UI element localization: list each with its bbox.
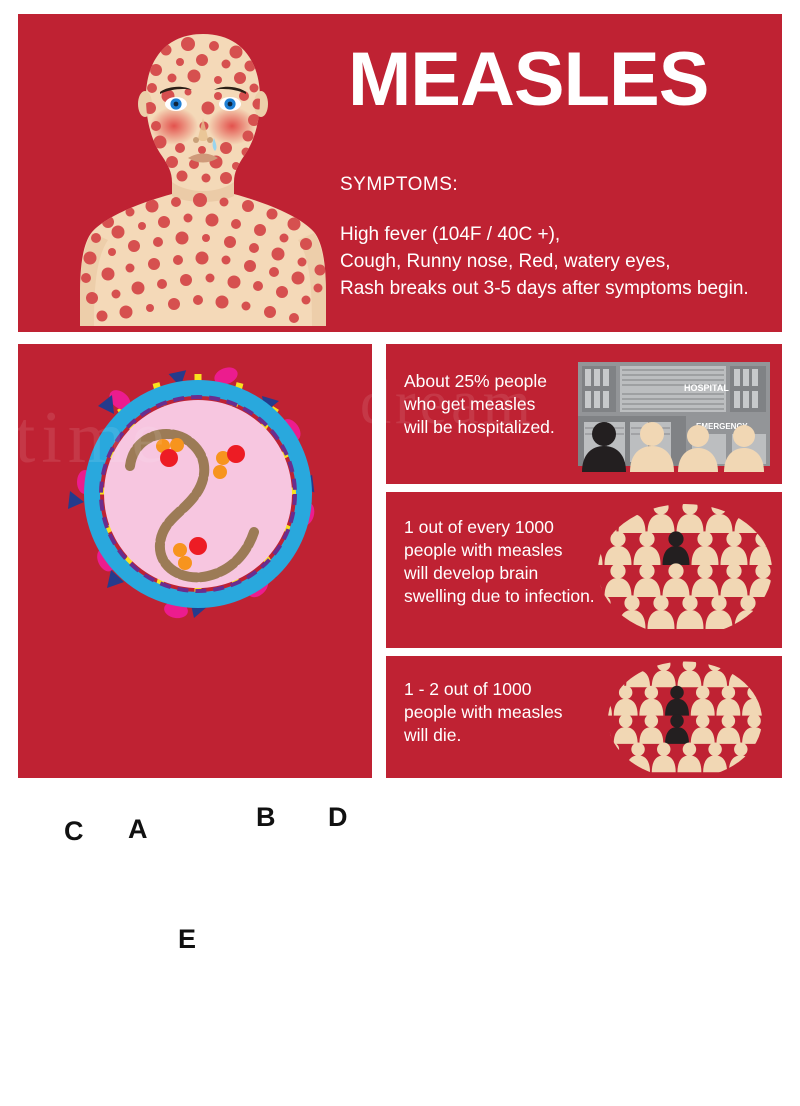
legend-row: C H protein	[32, 1028, 382, 1054]
symptom-line: Cough, Runny nose, Red, watery eyes,	[340, 249, 785, 276]
crowd-illustration-death	[598, 658, 772, 782]
legend-row: A Nucleocapsid (RNA genome + N proteins	[32, 976, 382, 1002]
highlighted-person-icon	[663, 531, 690, 565]
hospitalization-stat-panel: About 25% people who get measles will be…	[386, 344, 782, 484]
virus-label-b: B	[256, 802, 276, 833]
symptoms-heading: SYMPTOMS:	[340, 174, 458, 196]
stat-line: 1 out of every 1000	[404, 516, 614, 539]
brain-swelling-stat-panel: 1 out of every 1000 people with measles …	[386, 492, 782, 648]
page-title: MEASLES	[348, 42, 778, 118]
virus-label-c: C	[64, 816, 84, 847]
virus-structure-panel: A B C D E A Nucleocapsid (RNA genome + N…	[18, 344, 372, 778]
legend-row: B RNA polymerase (L + P proteins)	[32, 1002, 382, 1028]
stat-line: people with measles	[404, 539, 614, 562]
legend-row: E M protein	[32, 1080, 382, 1106]
header-panel: MEASLES SYMPTOMS: High fever (104F / 40C…	[18, 14, 782, 332]
symptom-line: High fever (104F / 40C +),	[340, 222, 785, 249]
legend-letter: B	[46, 997, 72, 1026]
legend-text: F protein	[82, 1057, 139, 1073]
legend-letter: C	[46, 1023, 72, 1052]
stat-line: 1 - 2 out of 1000	[404, 678, 604, 701]
stat-line: About 25% people	[404, 370, 594, 393]
virus-legend: A Nucleocapsid (RNA genome + N proteins …	[32, 976, 382, 1106]
measles-patient-illustration	[68, 26, 338, 326]
highlighted-person-icon	[665, 714, 689, 744]
legend-text: RNA polymerase (L + P proteins)	[82, 1005, 294, 1021]
virus-label-d: D	[328, 802, 348, 833]
brain-swelling-text: 1 out of every 1000 people with measles …	[404, 516, 614, 608]
stat-line: will die.	[404, 724, 604, 747]
highlighted-person-icon	[665, 686, 689, 716]
stat-line: will develop brain	[404, 562, 614, 585]
hospital-sign-text: HOSPITAL	[684, 383, 729, 393]
legend-text: M protein	[82, 1083, 142, 1099]
legend-text: H protein	[82, 1031, 141, 1047]
death-text: 1 - 2 out of 1000 people with measles wi…	[404, 678, 604, 747]
infographic-root: MEASLES SYMPTOMS: High fever (104F / 40C…	[0, 0, 800, 800]
legend-letter: A	[46, 971, 72, 1000]
hospital-building-illustration: HOSPITAL EMERGENCY	[576, 356, 772, 472]
stat-line: people with measles	[404, 701, 604, 724]
legend-row: D F protein	[32, 1054, 382, 1080]
legend-letter: D	[46, 1049, 72, 1078]
stat-line: swelling due to infection.	[404, 585, 614, 608]
virus-label-e: E	[178, 924, 196, 955]
crowd-illustration-brain	[598, 500, 772, 640]
stat-line: who get measles	[404, 393, 594, 416]
symptom-line: Rash breaks out 3-5 days after symptoms …	[340, 276, 785, 303]
stat-line: will be hospitalized.	[404, 416, 594, 439]
legend-letter: E	[46, 1075, 72, 1104]
measles-virus-diagram	[58, 354, 338, 634]
symptoms-list: High fever (104F / 40C +), Cough, Runny …	[340, 222, 785, 303]
virus-label-a: A	[128, 814, 148, 845]
legend-text: Nucleocapsid (RNA genome + N proteins	[82, 979, 347, 995]
death-stat-panel: 1 - 2 out of 1000 people with measles wi…	[386, 656, 782, 778]
hospitalization-text: About 25% people who get measles will be…	[404, 370, 594, 439]
